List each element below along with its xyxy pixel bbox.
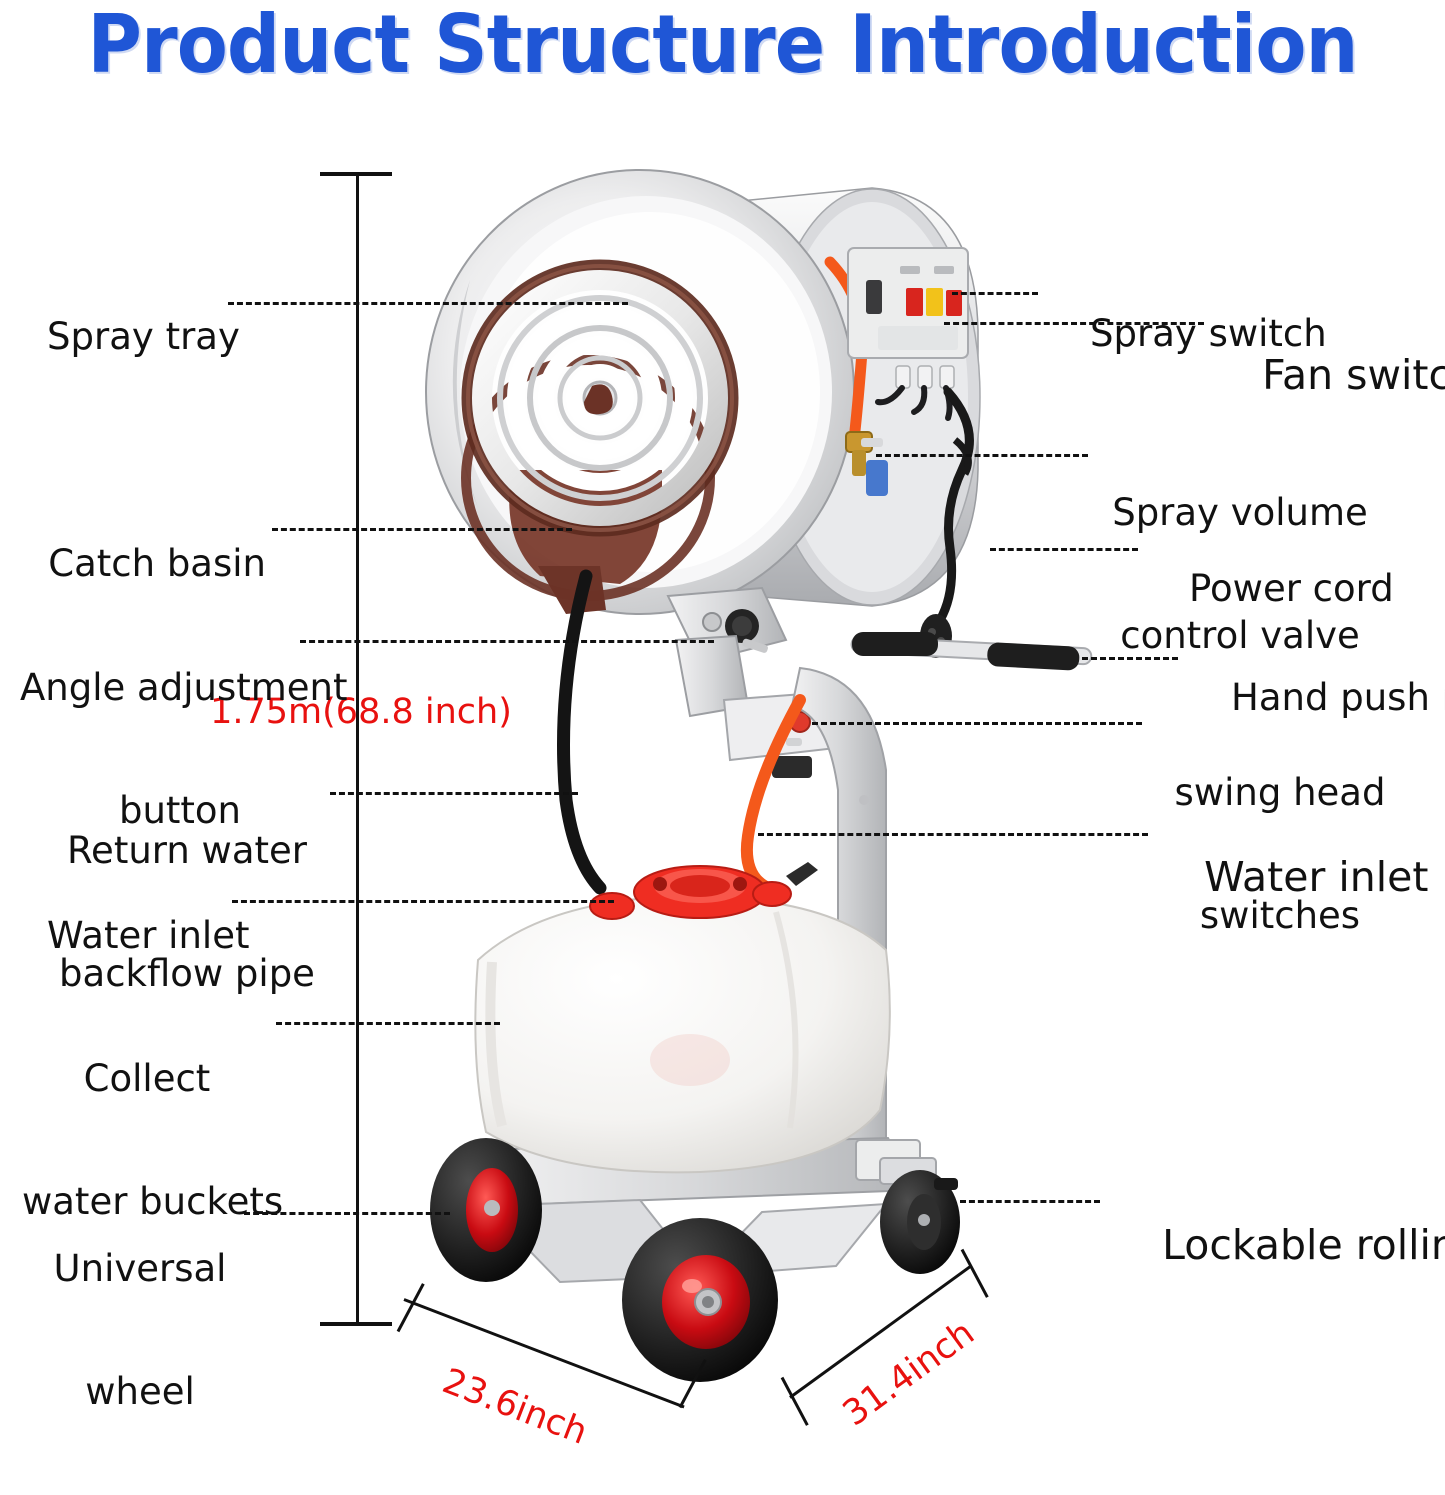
label-universal-wheel: Universal wheel (40, 1166, 240, 1494)
label-universal-wheel-line2: wheel (40, 1371, 240, 1412)
label-swing-head-switches-line1: swing head (1140, 772, 1420, 813)
spray-tray-part (468, 266, 732, 530)
label-fan-switch-text: Fan switch (1262, 351, 1445, 399)
label-angle-adjustment-line1: Angle adjustment (20, 667, 340, 708)
water-tank-part (475, 862, 890, 1172)
label-spray-tray-text: Spray tray (47, 315, 240, 358)
label-lockable-rolling: Lockable rolling (1110, 1178, 1445, 1313)
label-catch-basin-text: Catch basin (48, 542, 266, 585)
leader-lockable-rolling (960, 1200, 1100, 1203)
leader-angle-adjustment (300, 640, 714, 643)
leader-return-water-pipe (330, 792, 578, 795)
height-dimension-line (356, 172, 359, 1324)
label-power-cord: Power cord (1142, 527, 1442, 650)
label-collect-buckets-line1: Collect (22, 1058, 272, 1099)
leader-water-inlet-pipe (758, 833, 1148, 836)
leader-spray-tray (228, 302, 628, 305)
leader-spray-switch (952, 292, 1038, 295)
leader-spray-volume-valve (876, 454, 1088, 457)
return-water-hose-part (564, 576, 601, 888)
label-universal-wheel-line1: Universal (40, 1248, 240, 1289)
label-lockable-rolling-text: Lockable rolling (1162, 1221, 1445, 1269)
height-dimension-cap-bottom (320, 1322, 392, 1326)
product-structure-diagram: Product Structure Introduction (0, 0, 1445, 1437)
lockable-caster-part (880, 1158, 960, 1274)
label-water-inlet-text: Water inlet (47, 914, 249, 957)
tank-cap-part (634, 866, 766, 918)
label-spray-tray: Spray tray (0, 275, 222, 398)
handle-grip-right (987, 642, 1080, 671)
label-water-inlet-pipe: Water inlet pipe (1152, 810, 1445, 945)
handle-grip-left (852, 632, 938, 656)
label-return-water-pipe-line1: Return water (46, 830, 328, 871)
label-power-cord-text: Power cord (1189, 567, 1394, 610)
leader-catch-basin (272, 528, 572, 531)
label-water-inlet-pipe-text: Water inlet pipe (1204, 853, 1445, 901)
height-dimension-cap-top (320, 172, 392, 176)
fan-head-assembly (426, 170, 980, 658)
